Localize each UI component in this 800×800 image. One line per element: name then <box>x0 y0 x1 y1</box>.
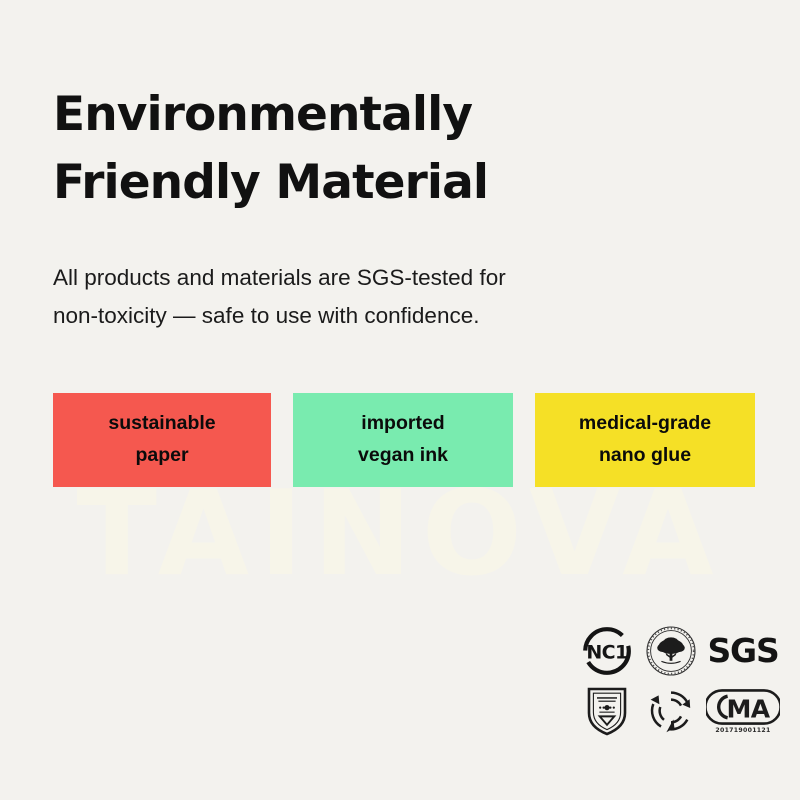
forest-tree-seal-logo <box>645 625 697 677</box>
recycling-symbol-logo <box>647 687 695 735</box>
material-badge-line-2: nano glue <box>599 440 691 472</box>
nc1-certification-logo: NC1 <box>582 626 632 676</box>
page-description-line-2: non-toxicity — safe to use with confiden… <box>53 297 663 336</box>
page-title-line-2: Friendly Material <box>53 149 693 217</box>
material-badge-line-2: paper <box>135 440 188 472</box>
cma-label: MA <box>726 695 770 724</box>
material-badge-line-2: vegan ink <box>358 440 448 472</box>
material-badge-line-1: imported <box>361 408 444 440</box>
cma-certification-logo: MA 201719001121 <box>706 688 780 734</box>
shield-quality-badge-logo <box>585 685 629 737</box>
material-badge-group: sustainable paper imported vegan ink med… <box>53 393 755 487</box>
material-badge-medical-grade-nano-glue: medical-grade nano glue <box>535 393 755 487</box>
cma-certificate-number: 201719001121 <box>715 727 770 734</box>
material-badge-imported-vegan-ink: imported vegan ink <box>293 393 513 487</box>
material-badge-line-1: sustainable <box>108 408 215 440</box>
brand-watermark: TAINOVA <box>0 474 800 592</box>
poster-canvas: TAINOVA Environmentally Friendly Materia… <box>0 0 800 800</box>
material-badge-sustainable-paper: sustainable paper <box>53 393 271 487</box>
page-description-line-1: All products and materials are SGS-teste… <box>53 259 663 298</box>
page-description: All products and materials are SGS-teste… <box>53 259 663 336</box>
sgs-certification-logo: SGS <box>704 631 782 671</box>
certification-logo-grid: NC1 <box>575 620 783 740</box>
material-badge-line-1: medical-grade <box>579 408 711 440</box>
page-title-line-1: Environmentally <box>53 81 693 149</box>
page-title: Environmentally Friendly Material <box>53 81 693 216</box>
svg-text:NC1: NC1 <box>586 641 627 663</box>
sgs-label: SGS <box>707 631 778 670</box>
